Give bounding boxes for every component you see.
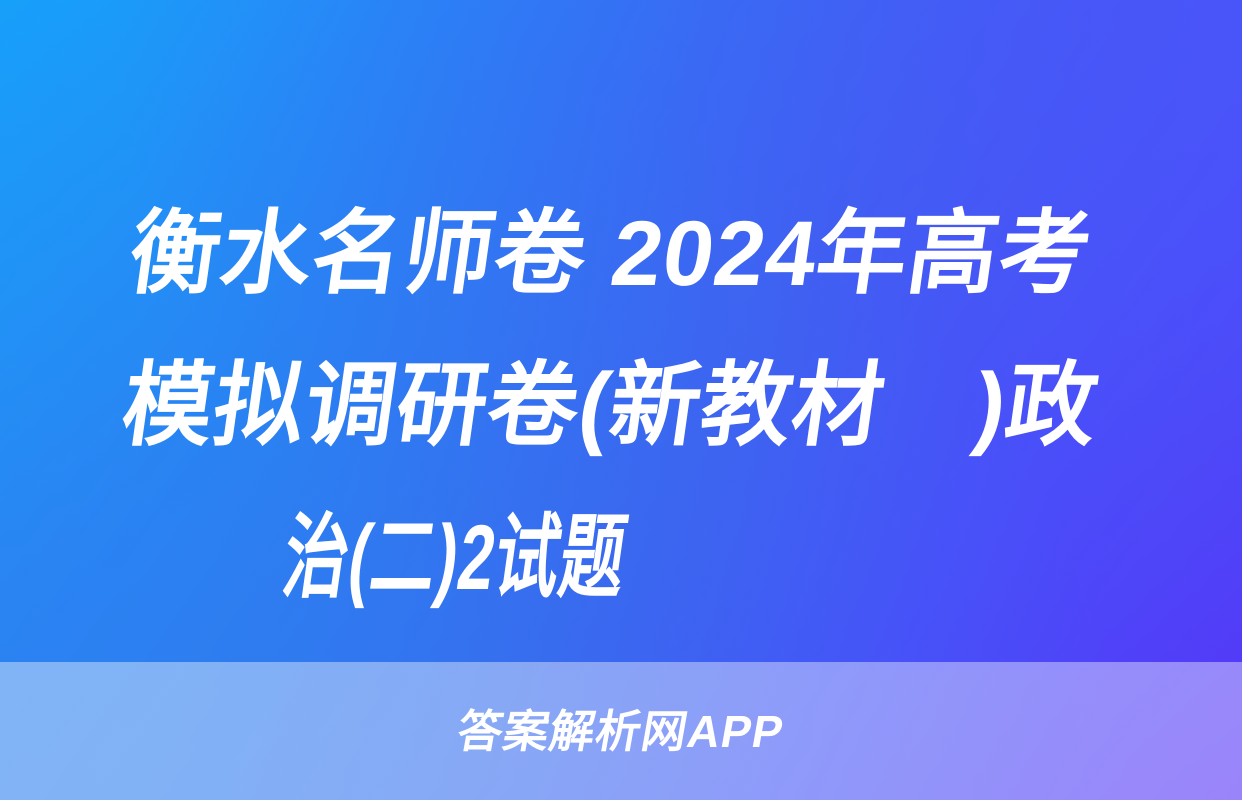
- page-title: 衡水名师卷 2024年高考 模拟调研卷(新教材 )政 治(二)2试题: [0, 178, 1242, 634]
- watermark-label: 答案解析网APP: [454, 709, 787, 754]
- title-line-2: 模拟调研卷(新教材 )政: [57, 330, 1163, 482]
- title-line-1: 衡水名师卷 2024年高考: [57, 178, 1163, 330]
- title-line-3: 治(二)2试题: [57, 482, 853, 634]
- watermark-band: 答案解析网APP: [0, 662, 1242, 800]
- exam-cover-card: 衡水名师卷 2024年高考 模拟调研卷(新教材 )政 治(二)2试题 答案解析网…: [0, 0, 1242, 800]
